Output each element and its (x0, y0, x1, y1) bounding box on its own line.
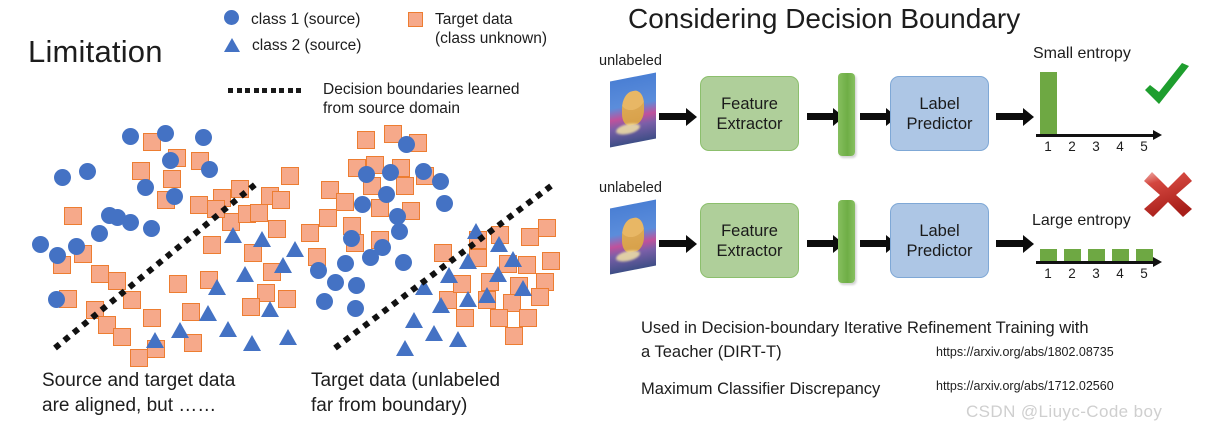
label-predictor-line1-row2: Label (906, 221, 972, 241)
feature-extractor-box-row1: Feature Extractor (700, 76, 799, 151)
label-predictor-line1-row1: Label (906, 94, 972, 114)
histogram-tick-label: 3 (1087, 139, 1105, 154)
caption-right-line2: far from boundary) (311, 393, 500, 418)
reference1-url[interactable]: https://arxiv.org/abs/1802.08735 (936, 345, 1114, 359)
data-point-triangle (396, 340, 414, 356)
histogram-bar (1112, 249, 1129, 261)
histogram-bar (1040, 72, 1057, 134)
feature-extractor-line1-row1: Feature (716, 94, 782, 114)
data-point-triangle (490, 236, 508, 252)
data-point-triangle (478, 287, 496, 303)
feature-extractor-line1-row2: Feature (716, 221, 782, 241)
caption-right-line1: Target data (unlabeled (311, 368, 500, 393)
data-point-circle (327, 274, 344, 291)
arrow-features-to-predictor-row2 (860, 240, 887, 247)
arrow-predictor-to-histogram-row2 (996, 240, 1024, 247)
histogram-bar (1136, 249, 1153, 261)
data-point-circle (310, 262, 327, 279)
scatter-plot-far-from-boundary (0, 0, 600, 380)
reference2-text: Maximum Classifier Discrepancy (641, 377, 880, 401)
arrow-extractor-to-features-row1 (807, 113, 834, 120)
data-point-triangle (459, 291, 477, 307)
data-point-square (519, 309, 537, 327)
histogram-tick-label: 1 (1039, 139, 1057, 154)
histogram-bar (1064, 249, 1081, 261)
input-thumbnail-row2 (610, 204, 656, 270)
histogram-tick-label: 4 (1111, 139, 1129, 154)
data-point-circle (382, 164, 399, 181)
feature-vector-row1 (838, 73, 855, 156)
data-point-square (505, 327, 523, 345)
feature-extractor-line2-row2: Extractor (716, 241, 782, 261)
arrow-input-to-extractor-row2 (659, 240, 687, 247)
histogram-axis (1036, 261, 1154, 264)
arrow-input-to-extractor-row1 (659, 113, 687, 120)
data-point-square (456, 309, 474, 327)
data-point-triangle (504, 251, 522, 267)
data-point-triangle (432, 297, 450, 313)
data-point-triangle (405, 312, 423, 328)
data-point-triangle (425, 325, 443, 341)
data-point-square (521, 228, 539, 246)
data-point-circle (436, 195, 453, 212)
data-point-circle (432, 173, 449, 190)
watermark: CSDN @Liuyc-Code boy (966, 402, 1162, 422)
data-point-circle (354, 196, 371, 213)
data-point-circle (348, 277, 365, 294)
histogram-tick-label: 1 (1039, 266, 1057, 281)
reference1-line1: Used in Decision-boundary Iterative Refi… (641, 316, 1089, 340)
data-point-square (336, 193, 354, 211)
feature-vector-row2 (838, 200, 855, 283)
feature-extractor-box-row2: Feature Extractor (700, 203, 799, 278)
unlabeled-label-row2: unlabeled (599, 180, 662, 196)
feature-extractor-line2-row1: Extractor (716, 114, 782, 134)
data-point-square (301, 224, 319, 242)
cross-icon (1140, 168, 1196, 225)
histogram-bar (1040, 249, 1057, 261)
label-predictor-box-row2: Label Predictor (890, 203, 989, 278)
data-point-circle (391, 223, 408, 240)
data-point-circle (343, 230, 360, 247)
reference2-url[interactable]: https://arxiv.org/abs/1712.02560 (936, 379, 1114, 393)
data-point-square (538, 219, 556, 237)
caption-right: Target data (unlabeled far from boundary… (311, 368, 500, 418)
data-point-square (319, 209, 337, 227)
data-point-triangle (449, 331, 467, 347)
label-predictor-line2-row2: Predictor (906, 241, 972, 261)
histogram-tick-label: 5 (1135, 139, 1153, 154)
caption-left-line2: are aligned, but …… (42, 393, 235, 418)
histogram-axis (1036, 134, 1154, 137)
data-point-square (357, 131, 375, 149)
arrow-extractor-to-features-row2 (807, 240, 834, 247)
histogram-bar (1088, 249, 1105, 261)
caption-left: Source and target data are aligned, but … (42, 368, 235, 418)
label-predictor-box-row1: Label Predictor (890, 76, 989, 151)
unlabeled-label-row1: unlabeled (599, 53, 662, 69)
input-thumbnail-row1 (610, 77, 656, 143)
data-point-square (490, 309, 508, 327)
data-point-circle (378, 186, 395, 203)
data-point-circle (337, 255, 354, 272)
data-point-triangle (514, 280, 532, 296)
data-point-square (542, 252, 560, 270)
data-point-circle (347, 300, 364, 317)
label-predictor-line2-row1: Predictor (906, 114, 972, 134)
data-point-circle (358, 166, 375, 183)
data-point-circle (316, 293, 333, 310)
arrow-predictor-to-histogram-row1 (996, 113, 1024, 120)
data-point-triangle (489, 266, 507, 282)
histogram-tick-label: 2 (1063, 139, 1081, 154)
data-point-circle (398, 136, 415, 153)
data-point-circle (395, 254, 412, 271)
histogram-tick-label: 4 (1111, 266, 1129, 281)
histogram-tick-label: 2 (1063, 266, 1081, 281)
considering-title: Considering Decision Boundary (628, 3, 1020, 35)
data-point-square (531, 288, 549, 306)
check-icon (1139, 62, 1195, 119)
data-point-circle (415, 163, 432, 180)
data-point-square (396, 177, 414, 195)
histogram-tick-label: 3 (1087, 266, 1105, 281)
caption-left-line1: Source and target data (42, 368, 235, 393)
entropy-label-row1: Small entropy (1033, 45, 1131, 63)
histogram-tick-label: 5 (1135, 266, 1153, 281)
data-point-circle (362, 249, 379, 266)
arrow-features-to-predictor-row1 (860, 113, 887, 120)
